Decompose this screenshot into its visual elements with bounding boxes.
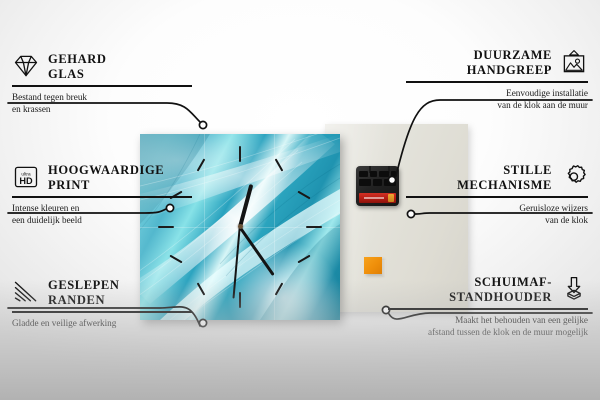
mechanism-body-detail xyxy=(359,171,396,188)
callout-rule xyxy=(406,81,588,83)
connector-node-geslepen-randen xyxy=(199,319,206,326)
callout-hoogwaardige-print[interactable]: ultra HD HOOGWAARDIGE PRINT Intense kleu… xyxy=(12,163,192,226)
clock-center-pivot xyxy=(238,224,243,229)
callout-rule xyxy=(12,196,192,198)
callout-title: STILLE MECHANISME xyxy=(406,163,552,193)
callout-rule xyxy=(388,308,588,310)
callout-duurzame-handgreep[interactable]: DUURZAME HANDGREEP Eenvoudige installati… xyxy=(406,48,588,111)
callout-header: SCHUIMAF- STANDHOUDER xyxy=(388,275,588,305)
mechanism-battery xyxy=(359,193,396,203)
callout-rule xyxy=(12,85,192,87)
callout-description: Bestand tegen breuk en krassen xyxy=(12,91,192,115)
diamond-icon xyxy=(12,52,40,80)
callout-title: SCHUIMAF- STANDHOUDER xyxy=(388,275,552,305)
press-down-icon xyxy=(560,275,588,303)
callout-title: GESLEPEN RANDEN xyxy=(48,278,120,308)
callout-rule xyxy=(406,196,588,198)
callout-title: DUURZAME HANDGREEP xyxy=(406,48,552,78)
callout-description: Maakt het behouden van een gelijke afsta… xyxy=(388,314,588,338)
clock-tick-3 xyxy=(306,226,322,228)
callout-title: HOOGWAARDIGE PRINT xyxy=(48,163,164,193)
callout-header: GEHARD GLAS xyxy=(12,52,192,82)
svg-text:HD: HD xyxy=(19,176,33,186)
callout-header: DUURZAME HANDGREEP xyxy=(406,48,588,78)
callout-description: Geruisloze wijzers van de klok xyxy=(406,202,588,226)
foam-spacer xyxy=(364,257,382,274)
clock-tick-9 xyxy=(158,226,174,228)
callout-header: ultra HD HOOGWAARDIGE PRINT xyxy=(12,163,192,193)
callout-rule xyxy=(12,311,192,313)
callout-header: STILLE MECHANISME xyxy=(406,163,588,193)
callout-title: GEHARD GLAS xyxy=(48,52,106,82)
ultra-hd-icon: ultra HD xyxy=(12,163,40,191)
gear-icon xyxy=(560,163,588,191)
picture-frame-icon xyxy=(560,48,588,76)
clock-tick-6 xyxy=(239,292,241,308)
callout-geslepen-randen[interactable]: GESLEPEN RANDEN Gladde en veilige afwerk… xyxy=(12,278,192,329)
callout-stille-mechanisme[interactable]: STILLE MECHANISME Geruisloze wijzers van… xyxy=(406,163,588,226)
callout-description: Intense kleuren en een duidelijk beeld xyxy=(12,202,192,226)
infographic-canvas: GEHARD GLAS Bestand tegen breuk en krass… xyxy=(0,0,600,400)
callout-description: Eenvoudige installatie van de klok aan d… xyxy=(406,87,588,111)
callout-schuimaf-standhouder[interactable]: SCHUIMAF- STANDHOUDER Maakt het behouden… xyxy=(388,275,588,338)
clock-tick-12 xyxy=(239,146,241,162)
clock-mechanism xyxy=(356,166,399,206)
callout-gehard-glas[interactable]: GEHARD GLAS Bestand tegen breuk en krass… xyxy=(12,52,192,115)
callout-description: Gladde en veilige afwerking xyxy=(12,317,192,329)
callout-header: GESLEPEN RANDEN xyxy=(12,278,192,308)
hatched-edge-icon xyxy=(12,278,40,306)
